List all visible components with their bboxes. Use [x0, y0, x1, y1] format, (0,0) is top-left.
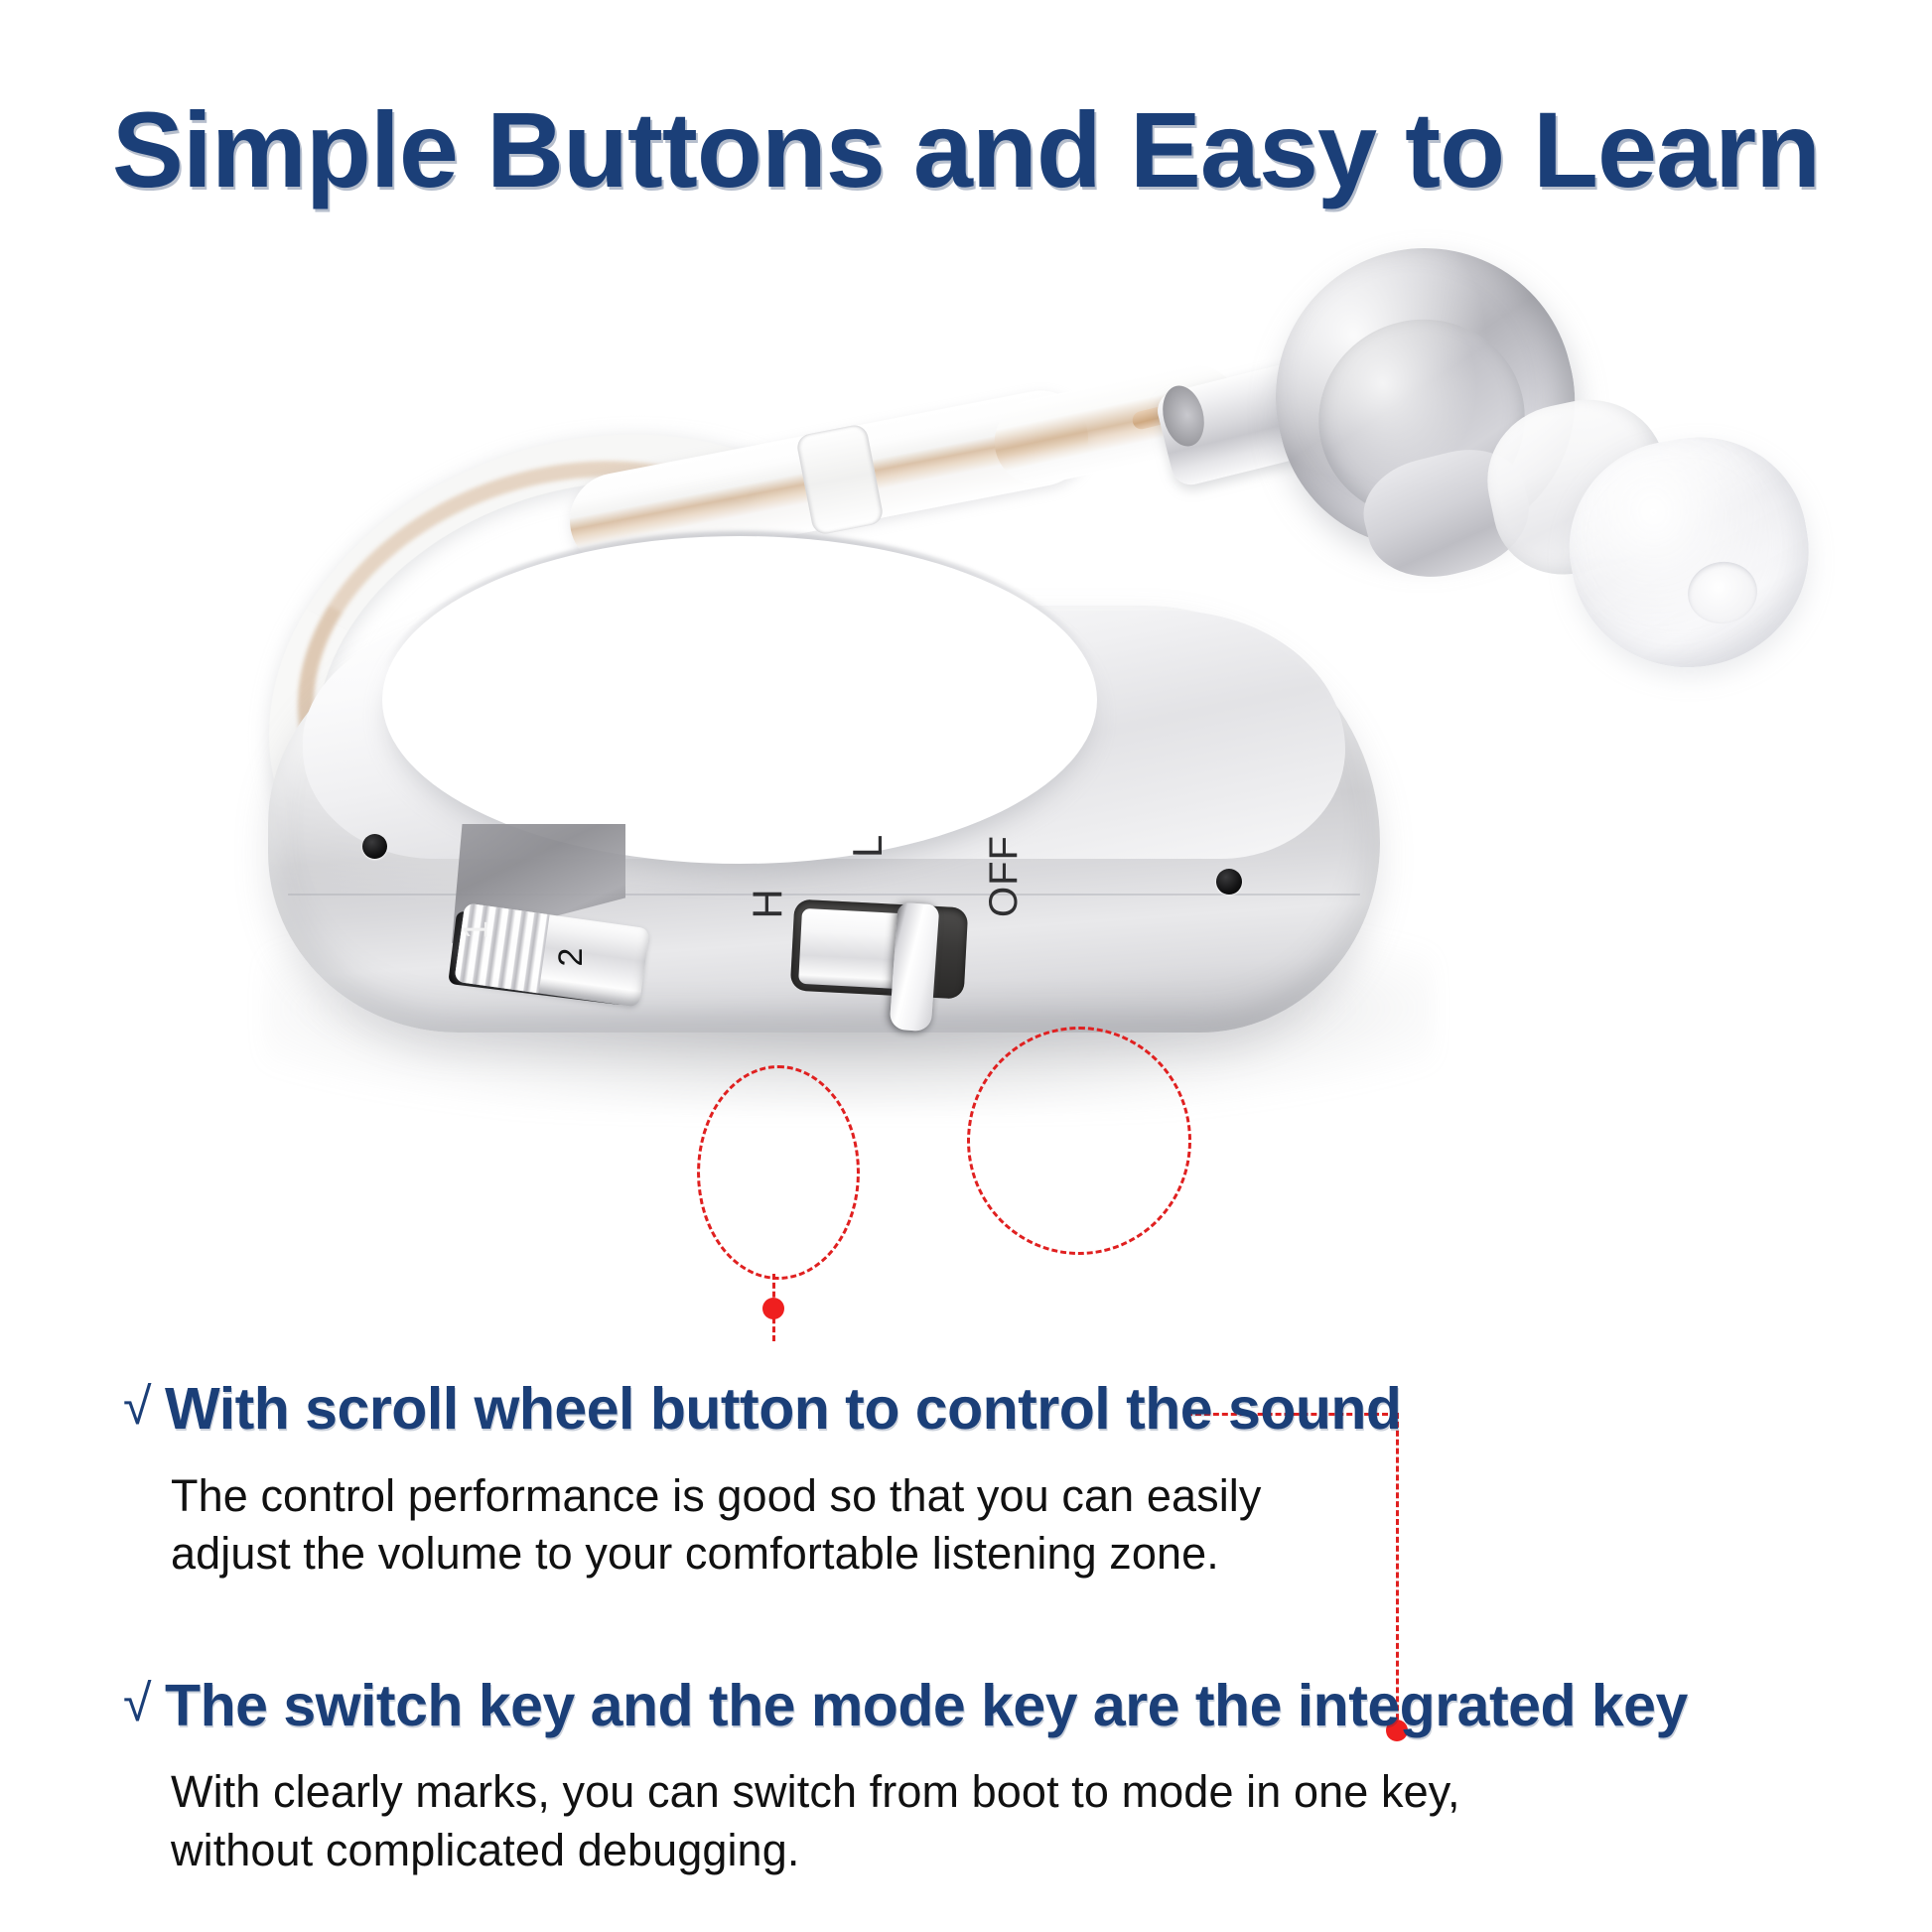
- feature-item-integrated-key: √ The switch key and the mode key are th…: [0, 1675, 1932, 1880]
- feature-heading-row: √ With scroll wheel button to control th…: [0, 1378, 1932, 1442]
- checkmark-icon: √: [123, 1380, 151, 1435]
- switch-label-off: OFF: [982, 835, 1027, 917]
- switch-label-h: H: [745, 888, 792, 918]
- feature-body-text: The control performance is good so that …: [0, 1467, 1660, 1584]
- feature-spacer: [0, 1584, 1932, 1675]
- feature-heading-text: The switch key and the mode key are the …: [165, 1675, 1688, 1738]
- feature-body-line-1: The control performance is good so that …: [171, 1467, 1660, 1526]
- product-image: 1 2 H L OFF: [208, 208, 1718, 1320]
- infographic-canvas: Simple Buttons and Easy to Learn: [0, 0, 1932, 1932]
- feature-heading-text: With scroll wheel button to control the …: [165, 1378, 1401, 1442]
- feature-body-line-1: With clearly marks, you can switch from …: [171, 1763, 1660, 1822]
- feature-item-scroll-wheel: √ With scroll wheel button to control th…: [0, 1378, 1932, 1584]
- feature-body-line-2: adjust the volume to your comfortable li…: [171, 1525, 1660, 1584]
- checkmark-icon: √: [123, 1677, 151, 1731]
- mode-switch-lever[interactable]: [890, 902, 940, 1033]
- device-body-notch: [382, 536, 1097, 864]
- volume-wheel-mark-1: 1: [458, 920, 496, 939]
- feature-heading-row: √ The switch key and the mode key are th…: [0, 1675, 1932, 1738]
- leader-dot-volume-wheel: [762, 1298, 784, 1319]
- feature-body-text: With clearly marks, you can switch from …: [0, 1763, 1660, 1879]
- volume-wheel-mark-2: 2: [552, 948, 591, 967]
- microphone-port-left-icon: [362, 834, 387, 859]
- feature-list: √ With scroll wheel button to control th…: [0, 1378, 1932, 1879]
- feature-body-line-2: without complicated debugging.: [171, 1822, 1660, 1880]
- microphone-port-right-icon: [1216, 869, 1242, 895]
- page-title: Simple Buttons and Easy to Learn: [0, 87, 1932, 211]
- volume-wheel-ridges: [454, 902, 549, 993]
- switch-label-l: L: [844, 834, 892, 858]
